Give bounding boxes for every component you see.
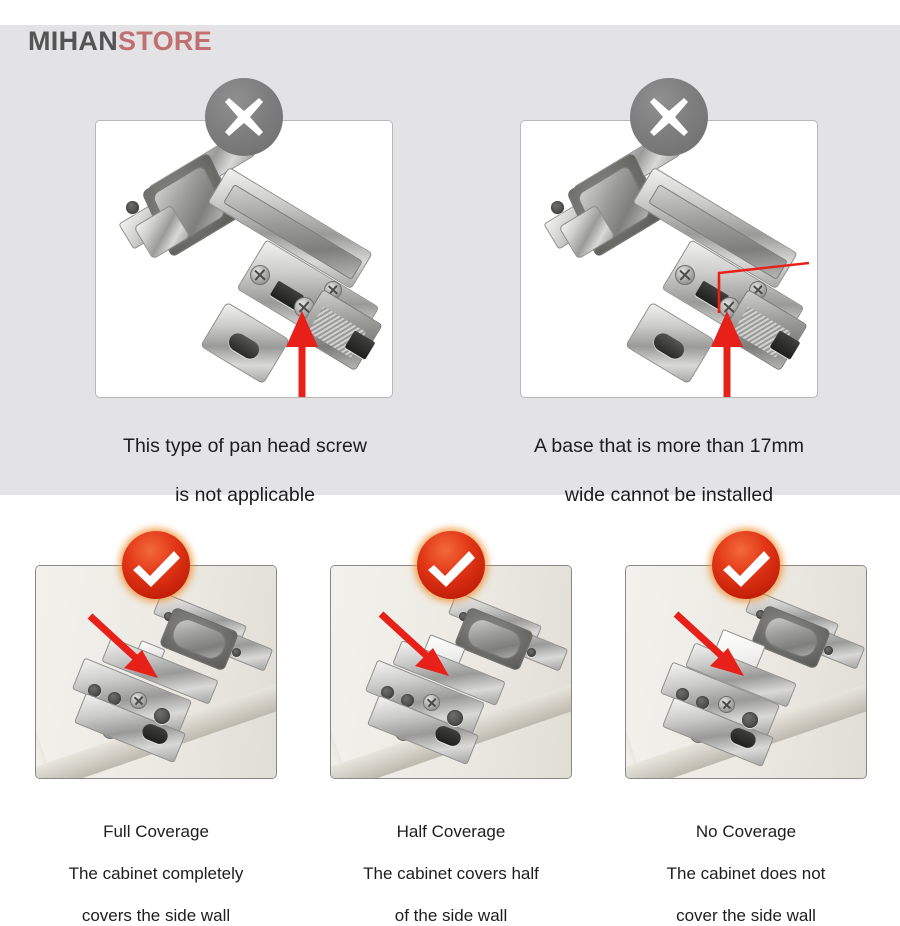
bottom-panel-no-coverage (625, 565, 867, 779)
check-icon (122, 531, 190, 599)
caption-line1: The cabinet does not (667, 864, 826, 883)
caption-line1: This type of pan head screw (123, 435, 367, 457)
caption-line2: covers the side wall (82, 906, 230, 925)
caption-title: Full Coverage (10, 821, 302, 842)
caption-line1: A base that is more than 17mm (534, 435, 804, 457)
caption-title: Half Coverage (305, 821, 597, 842)
cross-badge (205, 78, 283, 156)
caption-pan-head-screw: This type of pan head screw is not appli… (70, 410, 420, 507)
caption-full-coverage: Full Coverage The cabinet completely cov… (10, 800, 302, 926)
bottom-panel-half-coverage (330, 565, 572, 779)
check-icon (712, 531, 780, 599)
panel-card (95, 120, 393, 398)
red-arrow-icon (278, 305, 338, 397)
check-icon (417, 531, 485, 599)
brand-logo: MIHANSTORE (28, 28, 212, 55)
caption-half-coverage: Half Coverage The cabinet covers half of… (305, 800, 597, 926)
caption-title: No Coverage (600, 821, 892, 842)
infographic-page: MIHANSTORE (0, 0, 900, 900)
cross-icon (205, 78, 283, 156)
caption-wide-base: A base that is more than 17mm wide canno… (493, 410, 845, 507)
top-panel-wide-base (520, 120, 818, 398)
top-panel-pan-head-screw (95, 120, 393, 398)
caption-line2: is not applicable (175, 484, 315, 506)
red-arrow-icon (670, 608, 766, 694)
cross-icon (630, 78, 708, 156)
caption-line2: of the side wall (395, 906, 507, 925)
red-arrow-icon (375, 608, 471, 694)
caption-line1: The cabinet completely (69, 864, 244, 883)
panel-card (520, 120, 818, 398)
caption-line1: The cabinet covers half (363, 864, 539, 883)
check-badge (417, 531, 485, 599)
brand-logo-part1: MIHAN (28, 26, 118, 56)
check-badge (122, 531, 190, 599)
check-badge (712, 531, 780, 599)
red-arrow-icon (84, 610, 180, 696)
hinge-photo-wide-base (521, 121, 817, 397)
caption-line2: wide cannot be installed (565, 484, 773, 506)
caption-no-coverage: No Coverage The cabinet does not cover t… (600, 800, 892, 926)
red-arrow-icon (703, 305, 763, 397)
caption-line2: cover the side wall (676, 906, 816, 925)
cross-badge (630, 78, 708, 156)
bottom-panel-full-coverage (35, 565, 277, 779)
hinge-photo-pan-head-screw (96, 121, 392, 397)
brand-logo-part2: STORE (118, 26, 212, 56)
